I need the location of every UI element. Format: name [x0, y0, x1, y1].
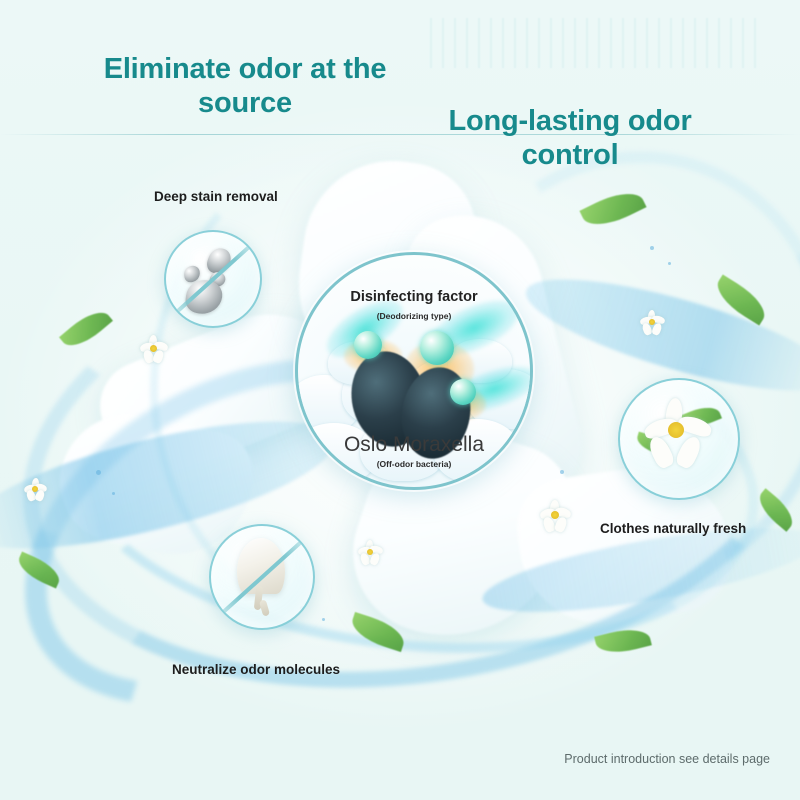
disinfect-bubble — [450, 379, 476, 405]
footer-note: Product introduction see details page — [564, 752, 770, 766]
water-droplet — [560, 470, 564, 474]
feature-label-clothes-fresh: Clothes naturally fresh — [600, 521, 746, 536]
headline-left: Eliminate odor at the source — [100, 52, 390, 120]
green-leaf — [348, 612, 409, 652]
water-droplet — [668, 262, 671, 265]
water-droplet — [112, 492, 115, 495]
feature-icon-neutralize-odor[interactable] — [209, 524, 315, 630]
feature-icon-deep-stain-removal[interactable] — [164, 230, 262, 328]
bacteria-name-note: (Off-odor bacteria) — [298, 459, 530, 469]
odor-tail — [259, 599, 270, 616]
green-leaf — [579, 184, 646, 235]
green-leaf — [594, 624, 652, 658]
headline-right: Long-lasting odor control — [400, 104, 740, 172]
disinfect-bubble — [354, 331, 382, 359]
water-droplet — [96, 470, 101, 475]
promo-poster: Eliminate odor at the source Long-lastin… — [0, 0, 800, 800]
center-diagram-circle[interactable]: Disinfecting factor (Deodorizing type) O… — [295, 252, 533, 490]
green-leaf — [753, 488, 800, 532]
headline-group: Eliminate odor at the source Long-lastin… — [0, 46, 800, 126]
green-leaf — [14, 552, 64, 589]
water-droplet — [650, 246, 654, 250]
disinfect-bubble — [420, 331, 454, 365]
feature-label-deep-stain-removal: Deep stain removal — [154, 189, 278, 204]
feature-label-neutralize-odor: Neutralize odor molecules — [172, 662, 340, 677]
feature-icon-clothes-fresh[interactable] — [618, 378, 740, 500]
center-title: Disinfecting factor — [298, 289, 530, 305]
center-subtitle: (Deodorizing type) — [298, 311, 530, 321]
green-leaf — [710, 274, 772, 325]
bacteria-name: Oslo Moraxella — [298, 433, 530, 457]
water-droplet — [322, 618, 325, 621]
green-leaf — [59, 304, 113, 354]
